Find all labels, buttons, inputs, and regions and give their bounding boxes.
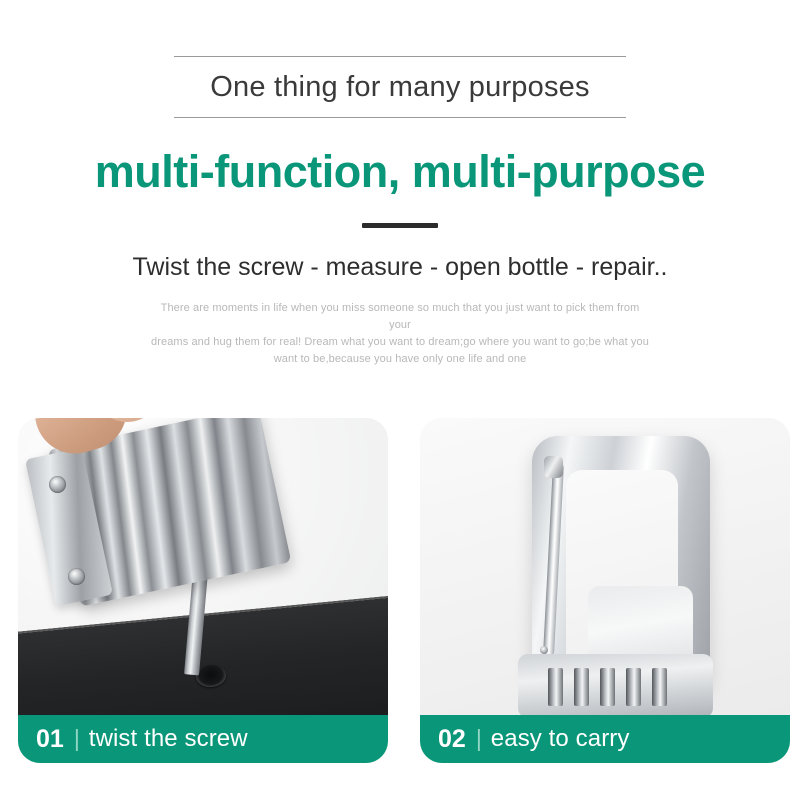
feature-card-01-separator: | [74, 727, 80, 750]
description-line-1: There are moments in life when you miss … [150, 300, 650, 334]
photo-bit-2 [574, 668, 589, 706]
description-paragraph: There are moments in life when you miss … [150, 300, 650, 368]
photo-bit-3 [600, 668, 615, 706]
page-subtitle: Twist the screw - measure - open bottle … [0, 254, 800, 282]
photo-tool-rivet-bottom [68, 568, 85, 585]
photo-bit-1 [548, 668, 563, 706]
product-photo-easy-to-carry [420, 418, 790, 715]
bottom-divider-rule [174, 117, 626, 118]
feature-card-01-footer: 01 | twist the screw [18, 715, 388, 763]
feature-card-01[interactable]: 01 | twist the screw [18, 418, 388, 763]
title-accent-dash [362, 223, 438, 228]
photo-carabiner-gate-pin [544, 456, 563, 478]
feature-card-list: 01 | twist the screw 02 | easy to carry [18, 418, 790, 763]
feature-card-02-footer: 02 | easy to carry [420, 715, 790, 763]
page-header: One thing for many purposes multi-functi… [0, 0, 800, 368]
description-line-2: dreams and hug them for real! Dream what… [150, 334, 650, 351]
feature-card-01-number: 01 [36, 727, 64, 752]
photo-bit-5 [652, 668, 667, 706]
feature-card-02-separator: | [476, 727, 482, 750]
description-line-3: want to be,because you have only one lif… [150, 351, 650, 368]
feature-card-02-caption: easy to carry [491, 727, 630, 751]
feature-card-02[interactable]: 02 | easy to carry [420, 418, 790, 763]
photo-bit-4 [626, 668, 641, 706]
feature-card-01-caption: twist the screw [89, 727, 248, 751]
product-photo-twist-the-screw [18, 418, 388, 715]
page-title: multi-function, multi-purpose [0, 148, 800, 195]
photo-small-pin [540, 646, 548, 654]
eyebrow-heading: One thing for many purposes [0, 57, 800, 117]
feature-card-02-number: 02 [438, 727, 466, 752]
photo-tool-rivet-top [49, 476, 66, 493]
